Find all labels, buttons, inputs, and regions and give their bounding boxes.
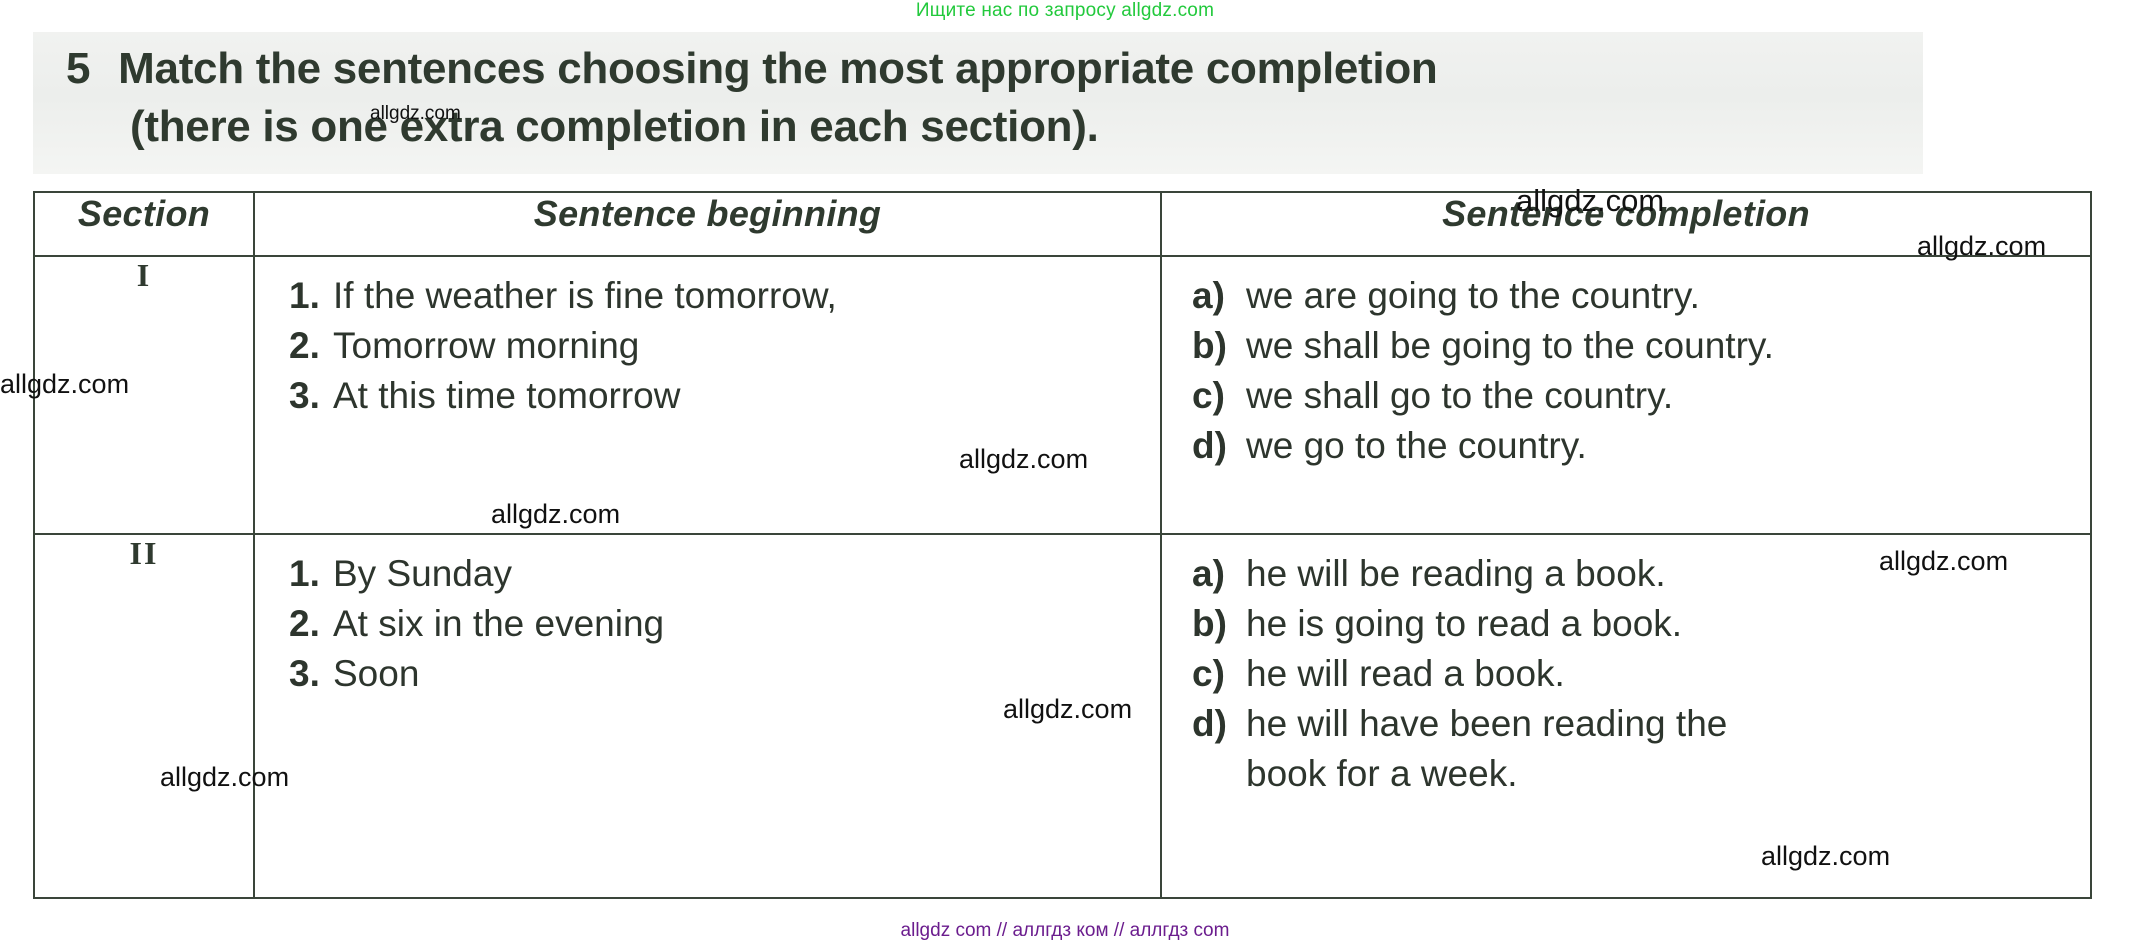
exercise-page: Ищите нас по запросу allgdz.com 5Match t…	[0, 0, 2130, 947]
list-item[interactable]: 3.At this time tomorrow	[289, 371, 1160, 421]
item-text: we shall be going to the country.	[1246, 325, 1774, 366]
sentence-beginning-list: 1.By Sunday 2.At six in the evening 3.So…	[255, 535, 1160, 699]
list-item[interactable]: a)he will be reading a book.	[1192, 549, 2090, 599]
item-text: he will read a book.	[1246, 653, 1565, 694]
item-text: At this time tomorrow	[333, 375, 680, 416]
item-text: At six in the evening	[333, 603, 664, 644]
list-item[interactable]: b)we shall be going to the country.	[1192, 321, 2090, 371]
sentence-completion-cell: a)he will be reading a book. b)he is goi…	[1161, 534, 2091, 899]
list-item[interactable]: c)he will read a book.	[1192, 649, 2090, 699]
list-item[interactable]: b)he is going to read a book.	[1192, 599, 2090, 649]
item-text: we go to the country.	[1246, 425, 1587, 466]
item-marker: 1.	[289, 271, 333, 321]
item-text: Soon	[333, 653, 419, 694]
item-text: By Sunday	[333, 553, 512, 594]
item-marker: 3.	[289, 649, 333, 699]
matching-table: Section Sentence beginning Sentence comp…	[33, 191, 2092, 899]
list-item[interactable]: 1.If the weather is fine tomorrow,	[289, 271, 1160, 321]
item-marker: a)	[1192, 271, 1246, 321]
sentence-completion-cell: a)we are going to the country. b)we shal…	[1161, 256, 2091, 534]
item-marker: b)	[1192, 599, 1246, 649]
sentence-beginning-cell: 1.By Sunday 2.At six in the evening 3.So…	[254, 534, 1161, 899]
list-item[interactable]: d)he will have been reading the book for…	[1192, 699, 2090, 799]
table-row: II 1.By Sunday 2.At six in the evening 3…	[34, 534, 2091, 899]
item-text: If the weather is fine tomorrow,	[333, 275, 837, 316]
section-label: II	[34, 534, 254, 899]
item-marker: 1.	[289, 549, 333, 599]
column-header-section: Section	[34, 192, 254, 256]
item-marker: a)	[1192, 549, 1246, 599]
item-marker: 3.	[289, 371, 333, 421]
list-item[interactable]: 1.By Sunday	[289, 549, 1160, 599]
item-text-continued: book for a week.	[1246, 749, 2090, 799]
item-marker: c)	[1192, 371, 1246, 421]
table-row: I 1.If the weather is fine tomorrow, 2.T…	[34, 256, 2091, 534]
item-marker: c)	[1192, 649, 1246, 699]
sentence-completion-list: a)we are going to the country. b)we shal…	[1162, 257, 2090, 471]
item-text: Tomorrow morning	[333, 325, 639, 366]
list-item[interactable]: c)we shall go to the country.	[1192, 371, 2090, 421]
column-header-sentence-beginning: Sentence beginning	[254, 192, 1161, 256]
section-label: I	[34, 256, 254, 534]
column-header-sentence-completion: Sentence completion	[1161, 192, 2091, 256]
task-instruction-line2: (there is one extra completion in each s…	[130, 98, 1966, 156]
item-text: we are going to the country.	[1246, 275, 1700, 316]
list-item[interactable]: 3.Soon	[289, 649, 1160, 699]
sentence-beginning-cell: 1.If the weather is fine tomorrow, 2.Tom…	[254, 256, 1161, 534]
footer-text: allgdz com // аллгдз ком // аллгдз com	[0, 920, 2130, 942]
sentence-beginning-list: 1.If the weather is fine tomorrow, 2.Tom…	[255, 257, 1160, 421]
list-item[interactable]: a)we are going to the country.	[1192, 271, 2090, 321]
table-header-row: Section Sentence beginning Sentence comp…	[34, 192, 2091, 256]
item-text: he will be reading a book.	[1246, 553, 1666, 594]
item-text: he is going to read a book.	[1246, 603, 1682, 644]
item-marker: 2.	[289, 599, 333, 649]
list-item[interactable]: d)we go to the country.	[1192, 421, 2090, 471]
item-text: we shall go to the country.	[1246, 375, 1673, 416]
task-number: 5	[66, 40, 90, 98]
list-item[interactable]: 2.Tomorrow morning	[289, 321, 1160, 371]
item-marker: d)	[1192, 699, 1246, 749]
list-item[interactable]: 2.At six in the evening	[289, 599, 1160, 649]
item-marker: 2.	[289, 321, 333, 371]
promo-banner-text: Ищите нас по запросу allgdz.com	[0, 0, 2130, 22]
sentence-completion-list: a)he will be reading a book. b)he is goi…	[1162, 535, 2090, 799]
task-instruction-line1: Match the sentences choosing the most ap…	[118, 44, 1437, 93]
item-text: he will have been reading the	[1246, 703, 1727, 744]
item-marker: b)	[1192, 321, 1246, 371]
task-heading: 5Match the sentences choosing the most a…	[66, 40, 1966, 156]
item-marker: d)	[1192, 421, 1246, 471]
